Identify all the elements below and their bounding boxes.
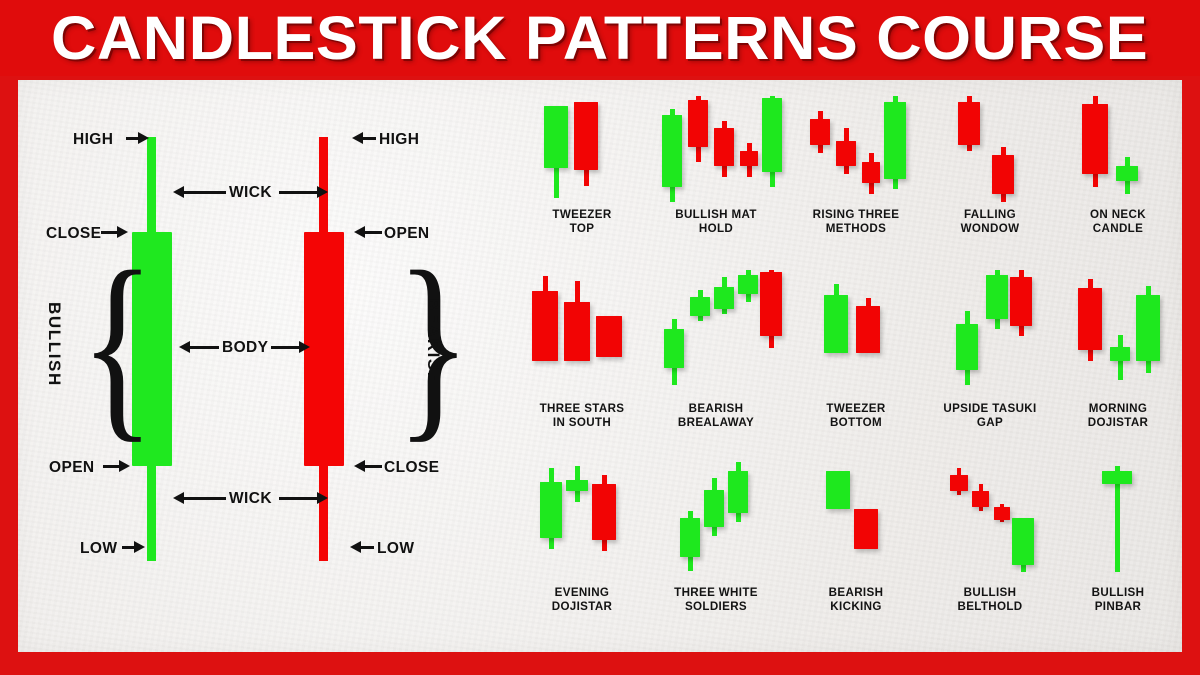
- pattern-chart: [950, 464, 1034, 576]
- pattern-name: BULLISH MAT HOLD: [646, 208, 786, 235]
- pattern-name-line2: PINBAR: [1054, 600, 1182, 614]
- body: [1082, 104, 1108, 174]
- bullish-low-arrow-head: [134, 541, 145, 553]
- pattern-name-line1: BULLISH: [1054, 586, 1182, 600]
- candle-green: [1136, 274, 1160, 392]
- candle-red: [992, 96, 1014, 202]
- body-arrow-line-right: [271, 346, 301, 349]
- pattern-name-line2: BREALAWAY: [646, 416, 786, 430]
- pattern-chart: [1078, 274, 1162, 392]
- body: [824, 295, 848, 352]
- body: [1110, 347, 1130, 361]
- pattern-chart: [1082, 96, 1148, 202]
- pattern-name: RISING THREE METHODS: [786, 208, 926, 235]
- body: [826, 471, 850, 509]
- body: [956, 324, 978, 370]
- pattern-name: THREE STARS IN SOUTH: [518, 402, 646, 429]
- pattern-name-line1: THREE STARS: [518, 402, 646, 416]
- candle-red: [532, 274, 558, 392]
- pattern-card-bearish-kicking[interactable]: BEARISH KICKING: [786, 462, 926, 642]
- bearish-close-label: CLOSE: [384, 460, 439, 476]
- candle-green: [884, 96, 906, 202]
- bearish-high-label: HIGH: [379, 132, 419, 148]
- body: [856, 306, 880, 352]
- body: [704, 490, 724, 527]
- wick-top-arrow-line-right: [279, 191, 320, 194]
- body: [992, 155, 1014, 193]
- pattern-chart: [532, 274, 634, 392]
- body: [714, 287, 734, 309]
- pattern-chart: [664, 270, 780, 392]
- body: [884, 102, 906, 178]
- pattern-name: TWEEZER BOTTOM: [786, 402, 926, 429]
- bullish-side-label: BULLISH: [46, 302, 63, 387]
- bullish-open-arrow-head: [119, 460, 130, 472]
- candle-green: [1116, 96, 1138, 202]
- wick-top-label: WICK: [229, 185, 272, 201]
- candle-green: [714, 270, 734, 392]
- candle-red: [714, 96, 734, 202]
- wick-top-arrow-head-right: [317, 186, 328, 198]
- pattern-card-upside-tasuki-gap[interactable]: UPSIDE TASUKI GAP: [926, 270, 1054, 460]
- wick-bottom-arrow-head-right: [317, 492, 328, 504]
- pattern-name: BULLISH BELTHOLD: [926, 586, 1054, 613]
- candle-green: [738, 270, 758, 392]
- body: [680, 518, 700, 557]
- candle-red: [854, 464, 878, 576]
- body: [662, 115, 682, 187]
- pattern-name-line2: IN SOUTH: [518, 416, 646, 430]
- body: [1012, 518, 1034, 565]
- body: [690, 297, 710, 317]
- candle-green: [662, 96, 682, 202]
- bullish-high-arrow-head: [138, 132, 149, 144]
- candle-green: [704, 462, 724, 578]
- pattern-name-line1: TWEEZER: [786, 402, 926, 416]
- bearish-open-arrow-line: [364, 231, 382, 234]
- pattern-chart: [662, 96, 782, 202]
- pattern-name-line1: EVENING: [518, 586, 646, 600]
- body: [1010, 277, 1032, 326]
- candle-red: [950, 464, 968, 576]
- pattern-name-line2: DOJISTAR: [1054, 416, 1182, 430]
- wick-bottom-arrow-line-right: [279, 497, 320, 500]
- pattern-name-line2: WONDOW: [926, 222, 1054, 236]
- pattern-card-bullish-belthold[interactable]: BULLISH BELTHOLD: [926, 462, 1054, 642]
- body: [740, 151, 758, 166]
- bullish-open-label: OPEN: [49, 460, 95, 476]
- candle-red: [740, 96, 758, 202]
- body: [862, 162, 880, 183]
- candle-green: [1110, 274, 1130, 392]
- candle-red: [574, 102, 598, 202]
- candle-green: [1012, 464, 1034, 576]
- pattern-card-morning-dojistar[interactable]: MORNING DOJISTAR: [1054, 270, 1182, 460]
- candle-green: [824, 280, 848, 390]
- candle-green: [728, 462, 748, 578]
- bullish-low-label: LOW: [80, 541, 117, 557]
- pattern-name-line1: FALLING: [926, 208, 1054, 222]
- pattern-name: EVENING DOJISTAR: [518, 586, 646, 613]
- candle-red: [688, 96, 708, 202]
- candle-green: [540, 464, 562, 576]
- body: [574, 102, 598, 170]
- candle-red: [856, 280, 880, 390]
- candle-red: [596, 274, 622, 392]
- pattern-name: BEARISH BREALAWAY: [646, 402, 786, 429]
- body: [994, 507, 1010, 520]
- bearish-high-arrow-line: [362, 137, 376, 140]
- body: [544, 106, 568, 168]
- bearish-side-label: BEARISH: [425, 298, 442, 386]
- candle-green: [566, 464, 588, 576]
- pattern-name: BULLISH PINBAR: [1054, 586, 1182, 613]
- pattern-name: BEARISH KICKING: [786, 586, 926, 613]
- candle-red: [592, 464, 616, 576]
- bearish-close-arrow-line: [364, 465, 382, 468]
- pattern-grid: TWEEZER TOP: [518, 94, 1182, 642]
- body: [664, 329, 684, 368]
- bullish-brace: {: [80, 240, 155, 448]
- candle-red: [810, 96, 830, 202]
- body: [532, 291, 558, 362]
- pattern-name-line1: BULLISH: [926, 586, 1054, 600]
- pattern-name-line2: METHODS: [786, 222, 926, 236]
- candle-green: [680, 462, 700, 578]
- bearish-lower-wick: [319, 463, 328, 561]
- pattern-card-rising-three-methods[interactable]: RISING THREE METHODS: [786, 94, 926, 264]
- poster-root: CANDLESTICK PATTERNS COURSE HIGH: [0, 0, 1200, 675]
- pattern-card-tweezer-bottom[interactable]: TWEEZER BOTTOM: [786, 270, 926, 460]
- pattern-name: FALLING WONDOW: [926, 208, 1054, 235]
- wick-bottom-label: WICK: [229, 491, 272, 507]
- pattern-name-line1: BULLISH MAT: [646, 208, 786, 222]
- body: [760, 272, 782, 335]
- candle-red: [836, 96, 856, 202]
- pattern-chart: [540, 464, 624, 576]
- pattern-name-line1: THREE WHITE: [646, 586, 786, 600]
- body: [836, 141, 856, 166]
- wick-bottom-arrow-line-left: [183, 497, 226, 500]
- candle-red: [862, 96, 880, 202]
- pattern-name: UPSIDE TASUKI GAP: [926, 402, 1054, 429]
- pattern-name-line1: MORNING: [1054, 402, 1182, 416]
- body: [728, 471, 748, 513]
- body: [540, 482, 562, 538]
- candle-green: [956, 270, 978, 392]
- pattern-chart: [958, 96, 1024, 202]
- candle-red: [958, 96, 980, 202]
- pattern-name-line1: ON NECK: [1054, 208, 1182, 222]
- pattern-name: ON NECK CANDLE: [1054, 208, 1182, 235]
- bullish-lower-wick: [147, 463, 156, 561]
- pattern-name-line2: BOTTOM: [786, 416, 926, 430]
- pattern-name: TWEEZER TOP: [518, 208, 646, 235]
- pattern-card-falling-wondow[interactable]: FALLING WONDOW: [926, 94, 1054, 264]
- body: [1078, 288, 1102, 349]
- pattern-name-line1: BEARISH: [786, 586, 926, 600]
- header-banner: CANDLESTICK PATTERNS COURSE: [0, 0, 1200, 76]
- body: [986, 275, 1008, 319]
- pattern-name-line2: BELTHOLD: [926, 600, 1054, 614]
- pattern-chart: [536, 102, 628, 202]
- bullish-high-label: HIGH: [73, 132, 113, 148]
- pattern-chart: [956, 270, 1034, 392]
- pattern-name-line1: UPSIDE TASUKI: [926, 402, 1054, 416]
- wick-top-arrow-line-left: [183, 191, 226, 194]
- body: [958, 102, 980, 144]
- body: [854, 509, 878, 549]
- body-label: BODY: [222, 340, 268, 356]
- pattern-card-three-white-soldiers[interactable]: THREE WHITE SOLDIERS: [646, 462, 786, 642]
- pattern-chart: [810, 96, 910, 202]
- candle-red: [1078, 274, 1102, 392]
- pattern-name: THREE WHITE SOLDIERS: [646, 586, 786, 613]
- pattern-chart: [826, 464, 886, 576]
- candle-red: [972, 464, 989, 576]
- body: [738, 275, 758, 295]
- pattern-card-three-stars-in-south[interactable]: THREE STARS IN SOUTH: [518, 270, 646, 460]
- candle-green: [986, 270, 1008, 392]
- body: [714, 128, 734, 166]
- candle-red: [994, 464, 1010, 576]
- body: [596, 316, 622, 356]
- pattern-card-on-neck-candle[interactable]: ON NECK CANDLE: [1054, 94, 1182, 264]
- bearish-low-arrow-line: [360, 546, 374, 549]
- pattern-name-line2: GAP: [926, 416, 1054, 430]
- pattern-name-line2: KICKING: [786, 600, 926, 614]
- body: [566, 480, 588, 491]
- body: [950, 475, 968, 491]
- bearish-body: [304, 232, 344, 466]
- pattern-card-tweezer-top[interactable]: TWEEZER TOP: [518, 94, 646, 264]
- candle-green: [690, 270, 710, 392]
- pattern-name-line2: TOP: [518, 222, 646, 236]
- candle-green: [664, 270, 684, 392]
- candle-green: [762, 96, 782, 202]
- candle-anatomy-diagram: HIGH HIGH WICK CLOSE OPEN { BULLISH: [18, 80, 508, 652]
- body: [762, 98, 782, 172]
- pattern-card-evening-dojistar[interactable]: EVENING DOJISTAR: [518, 462, 646, 642]
- pattern-name-line1: BEARISH: [646, 402, 786, 416]
- body: [1116, 166, 1138, 181]
- pattern-name-line2: DOJISTAR: [518, 600, 646, 614]
- pattern-name-line1: TWEEZER: [518, 208, 646, 222]
- body: [972, 491, 989, 507]
- body-arrow-line-left: [189, 346, 219, 349]
- body: [564, 302, 590, 361]
- pattern-card-bullish-pinbar[interactable]: BULLISH PINBAR: [1054, 462, 1182, 642]
- pattern-name: MORNING DOJISTAR: [1054, 402, 1182, 429]
- pattern-chart: [824, 280, 890, 390]
- candle-red: [760, 270, 782, 392]
- pattern-card-bearish-brealaway[interactable]: BEARISH BREALAWAY: [646, 270, 786, 460]
- candle-red: [564, 274, 590, 392]
- content-canvas: HIGH HIGH WICK CLOSE OPEN { BULLISH: [18, 80, 1182, 652]
- pattern-name-line2: SOLDIERS: [646, 600, 786, 614]
- body-arrow-head-right: [299, 341, 310, 353]
- pattern-chart: [680, 462, 754, 578]
- candle-green: [544, 102, 568, 202]
- body: [592, 484, 616, 540]
- bullish-upper-wick: [147, 137, 156, 237]
- body: [1102, 471, 1132, 484]
- pattern-chart: [1102, 464, 1132, 576]
- candle-red: [1082, 96, 1108, 202]
- body: [810, 119, 830, 144]
- page-title: CANDLESTICK PATTERNS COURSE: [51, 8, 1148, 69]
- candle-red: [1010, 270, 1032, 392]
- candle-green: [826, 464, 850, 576]
- pattern-card-bullish-mat-hold[interactable]: BULLISH MAT HOLD: [646, 94, 786, 264]
- body: [688, 100, 708, 147]
- body: [1136, 295, 1160, 361]
- pattern-name-line2: HOLD: [646, 222, 786, 236]
- pattern-name-line1: RISING THREE: [786, 208, 926, 222]
- bearish-low-label: LOW: [377, 541, 414, 557]
- candle-green: [1102, 464, 1132, 576]
- pattern-name-line2: CANDLE: [1054, 222, 1182, 236]
